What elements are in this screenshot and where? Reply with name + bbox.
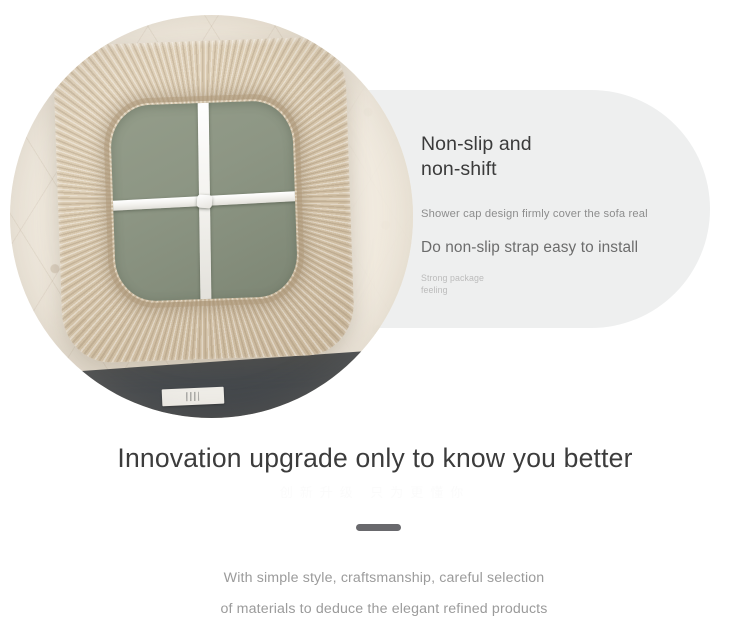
product-photo [10,15,413,418]
sofa-cover [53,36,356,364]
tagline-line-1: With simple style, craftsmanship, carefu… [0,563,750,594]
feature-subtitle-3: Strong package feeling [421,273,711,297]
feature-subtitle-2: Do non-slip strap easy to install [421,239,711,257]
photo-inner [10,15,413,418]
feature-title: Non-slip and non-shift [421,132,711,183]
cover-underside-panel [110,100,299,302]
strap-junction [196,194,212,208]
feature-subtitle-1: Shower cap design firmly cover the sofa … [421,208,711,220]
ghost-subheadline: 创新升级 只为更懂你 [0,482,750,501]
care-label-tag [162,387,225,407]
section-divider [356,524,401,531]
tagline-block: With simple style, craftsmanship, carefu… [0,563,750,625]
tagline-line-2: of materials to deduce the elegant refin… [0,594,750,625]
feature-text-block: Non-slip and non-shift Shower cap design… [421,132,711,296]
main-headline: Innovation upgrade only to know you bett… [0,443,750,474]
product-feature-banner: Non-slip and non-shift Shower cap design… [0,0,750,634]
